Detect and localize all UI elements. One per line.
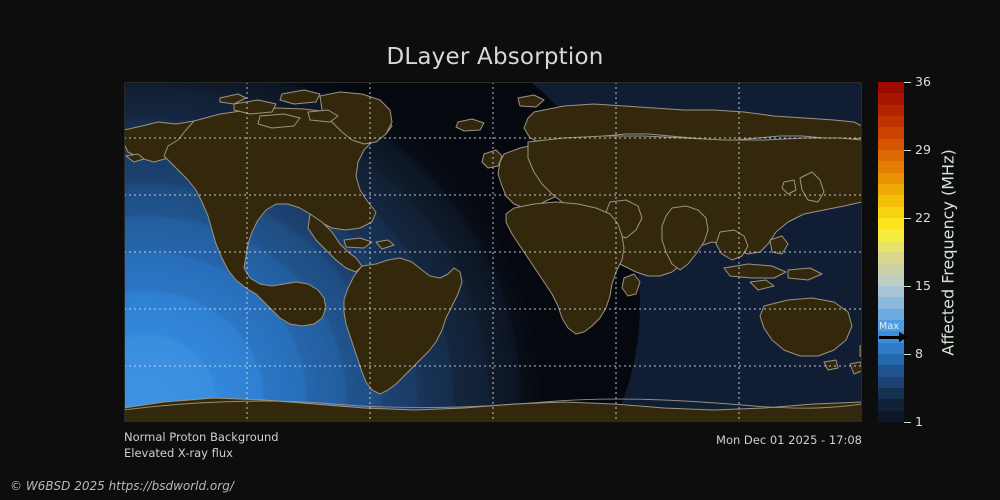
tick-dash <box>904 218 911 219</box>
tick-dash <box>904 354 911 355</box>
colorbar-swatch-9 <box>878 309 904 320</box>
tick-label: 22 <box>915 212 931 225</box>
colorbar-swatch-27 <box>878 105 904 116</box>
colorbar-swatch-22 <box>878 161 904 172</box>
colorbar-swatch-29 <box>878 82 904 93</box>
proton-status: Normal Proton Background <box>124 430 279 444</box>
colorbar-swatch-12 <box>878 275 904 286</box>
colorbar-swatch-15 <box>878 241 904 252</box>
colorbar-swatch-17 <box>878 218 904 229</box>
colorbar-swatch-0 <box>878 411 904 422</box>
colorbar-swatch-19 <box>878 195 904 206</box>
colorbar[interactable] <box>878 82 904 422</box>
timestamp: Mon Dec 01 2025 - 17:08 <box>716 433 862 447</box>
page-title: DLayer Absorption <box>0 44 990 70</box>
colorbar-swatch-6 <box>878 343 904 354</box>
colorbar-swatch-28 <box>878 93 904 104</box>
map-canvas <box>124 82 862 422</box>
tick-dash <box>904 422 911 423</box>
tick-dash <box>904 82 911 83</box>
colorbar-axis-label: Affected Frequency (MHz) <box>938 82 958 422</box>
colorbar-gradient <box>878 82 904 422</box>
colorbar-swatch-1 <box>878 399 904 410</box>
colorbar-swatch-7 <box>878 331 904 342</box>
colorbar-swatch-13 <box>878 263 904 274</box>
colorbar-swatch-23 <box>878 150 904 161</box>
tick-dash <box>904 286 911 287</box>
tick-label: 29 <box>915 144 931 157</box>
colorbar-swatch-16 <box>878 229 904 240</box>
colorbar-swatch-10 <box>878 297 904 308</box>
world-map[interactable] <box>124 82 862 422</box>
colorbar-swatch-21 <box>878 173 904 184</box>
colorbar-swatch-5 <box>878 354 904 365</box>
colorbar-swatch-14 <box>878 252 904 263</box>
colorbar-swatch-8 <box>878 320 904 331</box>
colorbar-swatch-11 <box>878 286 904 297</box>
tick-label: 8 <box>915 348 923 361</box>
tick-dash <box>904 150 911 151</box>
colorbar-swatch-24 <box>878 139 904 150</box>
colorbar-swatch-18 <box>878 207 904 218</box>
copyright: © W6BSD 2025 https://bsdworld.org/ <box>10 479 234 493</box>
colorbar-swatch-2 <box>878 388 904 399</box>
app-root: DLayer Absorption <box>0 0 1000 500</box>
xray-status: Elevated X-ray flux <box>124 446 233 460</box>
colorbar-axis-label-text: Affected Frequency (MHz) <box>939 149 958 355</box>
colorbar-swatch-20 <box>878 184 904 195</box>
colorbar-swatch-26 <box>878 116 904 127</box>
tick-label: 36 <box>915 76 931 89</box>
colorbar-swatch-25 <box>878 127 904 138</box>
tick-label: 1 <box>915 416 923 429</box>
colorbar-swatch-3 <box>878 377 904 388</box>
colorbar-swatch-4 <box>878 365 904 376</box>
tick-label: 15 <box>915 280 931 293</box>
